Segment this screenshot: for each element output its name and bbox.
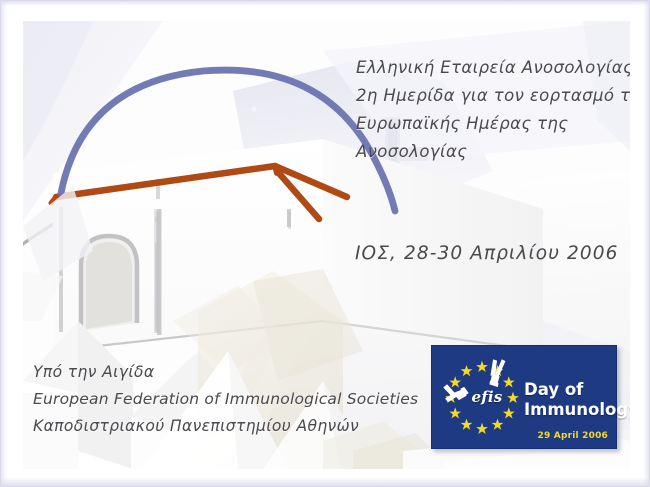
doi-date: 29 April 2006	[538, 431, 608, 441]
aegis-line-3: Καποδιστριακού Πανεπιστημίου Αθηνών	[33, 413, 418, 440]
efis-logo: efis Day of Immunology 29 April 2006	[431, 345, 617, 449]
artwork-area: Ελληνική Εταιρεία Ανοσολογίας 2η Ημερίδα…	[23, 21, 630, 469]
title-line-1: Ελληνική Εταιρεία Ανοσολογίας	[356, 54, 630, 82]
day-of-immunology-text: Day of Immunology	[524, 380, 630, 420]
doi-line-2: Immunology	[524, 400, 630, 420]
poster-canvas: Ελληνική Εταιρεία Ανοσολογίας 2η Ημερίδα…	[0, 0, 650, 487]
event-date: ΙΟΣ, 28-30 Απριλίου 2006	[355, 243, 619, 264]
aegis-block: Υπό την Αιγίδα European Federation of Im…	[33, 359, 418, 440]
title-line-2: 2η Ημερίδα για τον εορτασμό της	[356, 82, 630, 110]
title-line-4: Ανοσολογίας	[356, 138, 630, 166]
doi-line-1: Day of	[524, 380, 630, 400]
title-block: Ελληνική Εταιρεία Ανοσολογίας 2η Ημερίδα…	[356, 54, 630, 166]
efis-acronym: efis	[462, 388, 512, 406]
aegis-line-2: European Federation of Immunological Soc…	[33, 386, 418, 413]
aegis-line-1: Υπό την Αιγίδα	[33, 359, 418, 386]
antibody-icon-upper	[490, 360, 505, 387]
title-line-3: Ευρωπαϊκής Ημέρας της	[356, 110, 630, 138]
